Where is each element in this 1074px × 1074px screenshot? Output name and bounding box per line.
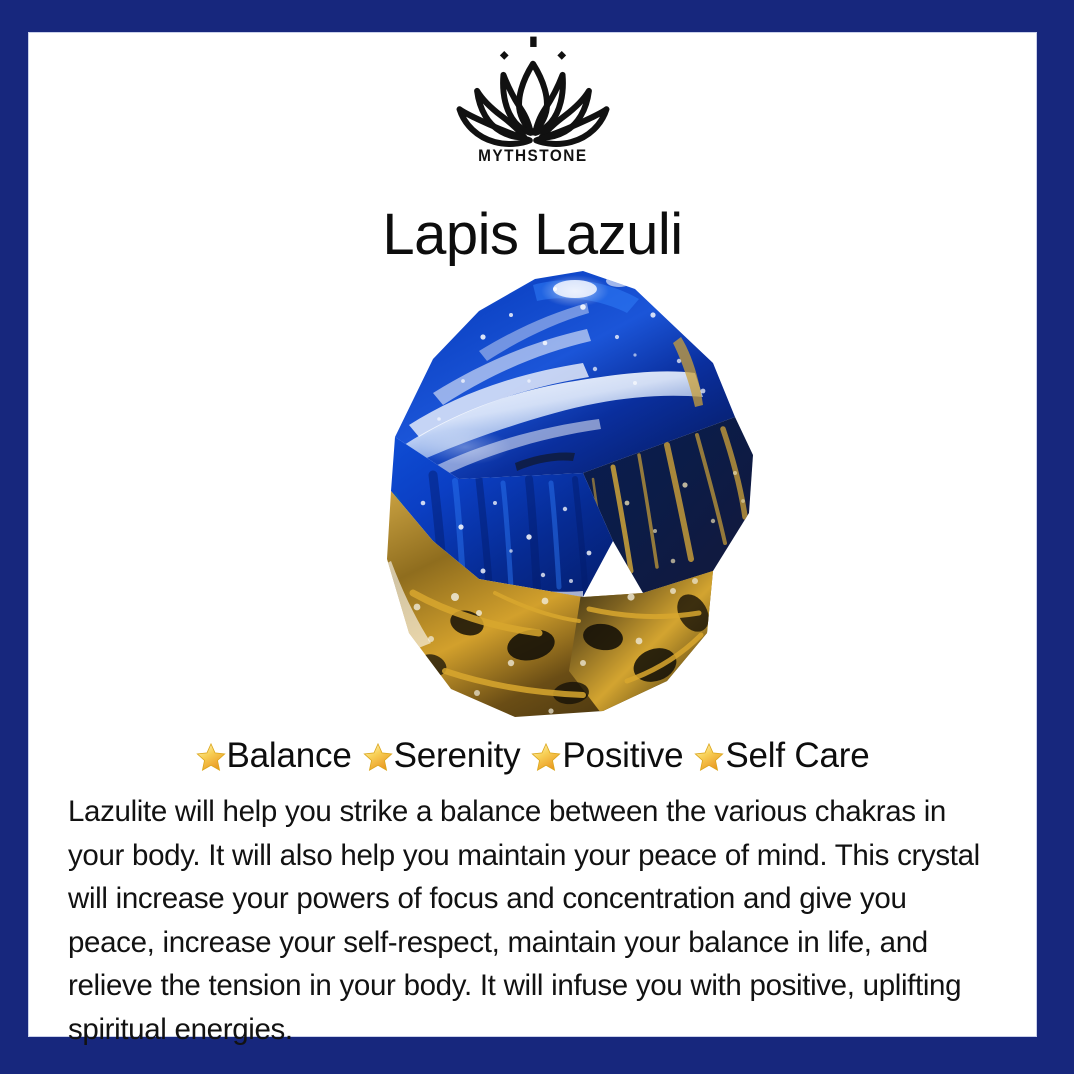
star-icon: [531, 742, 561, 772]
card-panel: MYTHSTONE Lapis Lazuli: [29, 33, 1036, 1036]
description-text: Lazulite will help you strike a balance …: [68, 790, 993, 1051]
product-card: MYTHSTONE Lapis Lazuli: [0, 0, 1074, 1074]
lapis-lazuli-stone-icon: [283, 241, 783, 727]
product-image: [29, 241, 1036, 727]
keyword-label: Self Care: [725, 736, 869, 775]
lotus-icon: [453, 35, 613, 150]
star-icon: [363, 742, 393, 772]
brand-block: MYTHSTONE: [29, 33, 1036, 171]
keyword-label: Positive: [562, 736, 683, 775]
keyword-item: Balance: [196, 735, 352, 777]
brand-wordmark: MYTHSTONE: [478, 148, 587, 165]
keyword-list: Balance Serenity Positive Self Care: [29, 735, 1036, 777]
keyword-item: Self Care: [694, 735, 869, 777]
keyword-label: Balance: [227, 736, 352, 775]
keyword-item: Positive: [531, 735, 683, 777]
keyword-label: Serenity: [394, 736, 521, 775]
keyword-item: Serenity: [363, 735, 521, 777]
star-icon: [196, 742, 226, 772]
star-icon: [694, 742, 724, 772]
